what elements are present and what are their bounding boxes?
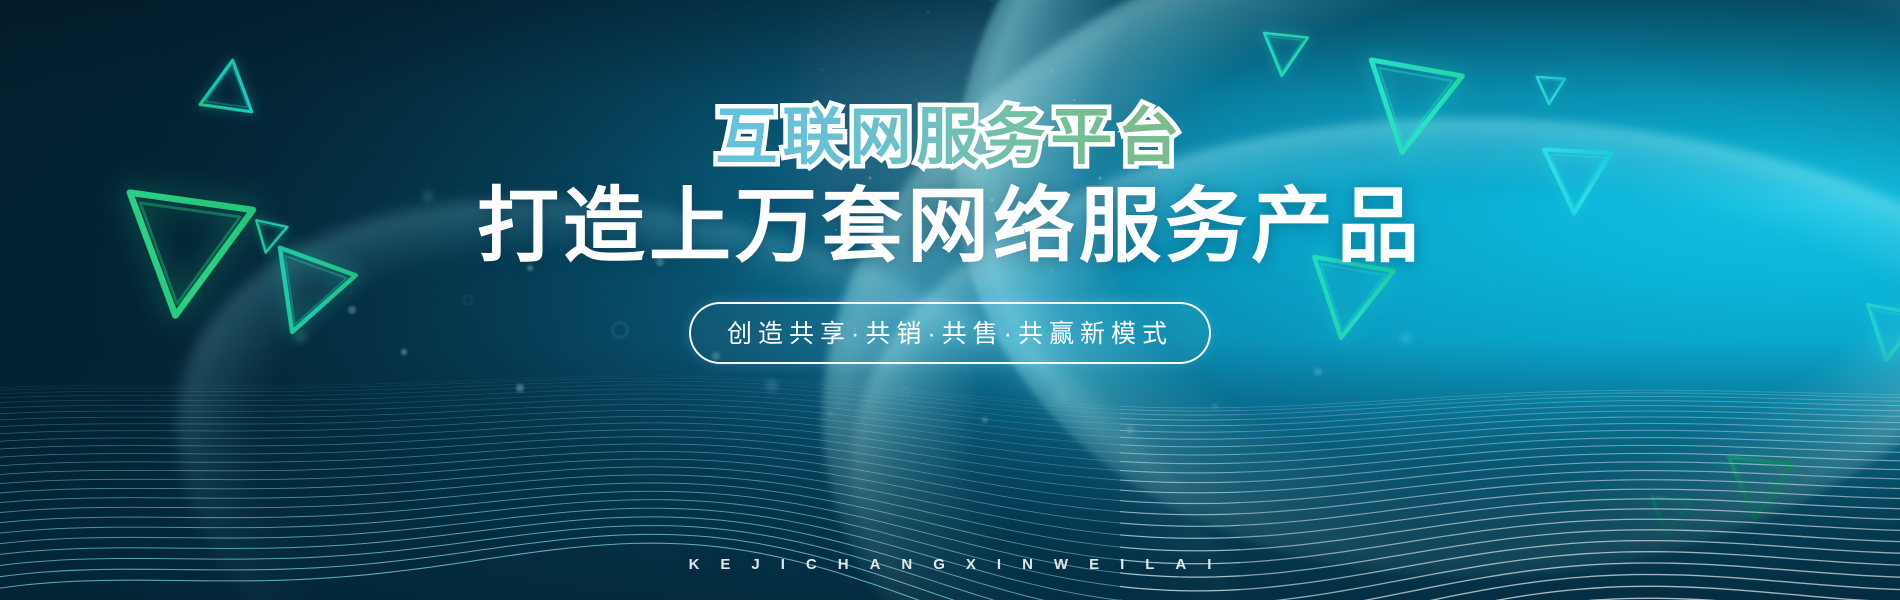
banner-headline: 打造上万套网络服务产品 [0,183,1900,272]
banner-subtitle-top: 互联网服务平台 互联网服务平台 [715,107,1184,169]
hero-banner: 互联网服务平台 互联网服务平台 打造上万套网络服务产品 创造共享·共销·共售·共… [0,0,1900,600]
banner-tagline-pill: 创造共享·共销·共售·共赢新模式 [689,302,1211,364]
banner-subtitle-top-fill: 互联网服务平台 [715,103,1184,172]
background-bottom-shade [0,340,1900,600]
banner-content: 互联网服务平台 互联网服务平台 打造上万套网络服务产品 创造共享·共销·共售·共… [0,0,1900,364]
